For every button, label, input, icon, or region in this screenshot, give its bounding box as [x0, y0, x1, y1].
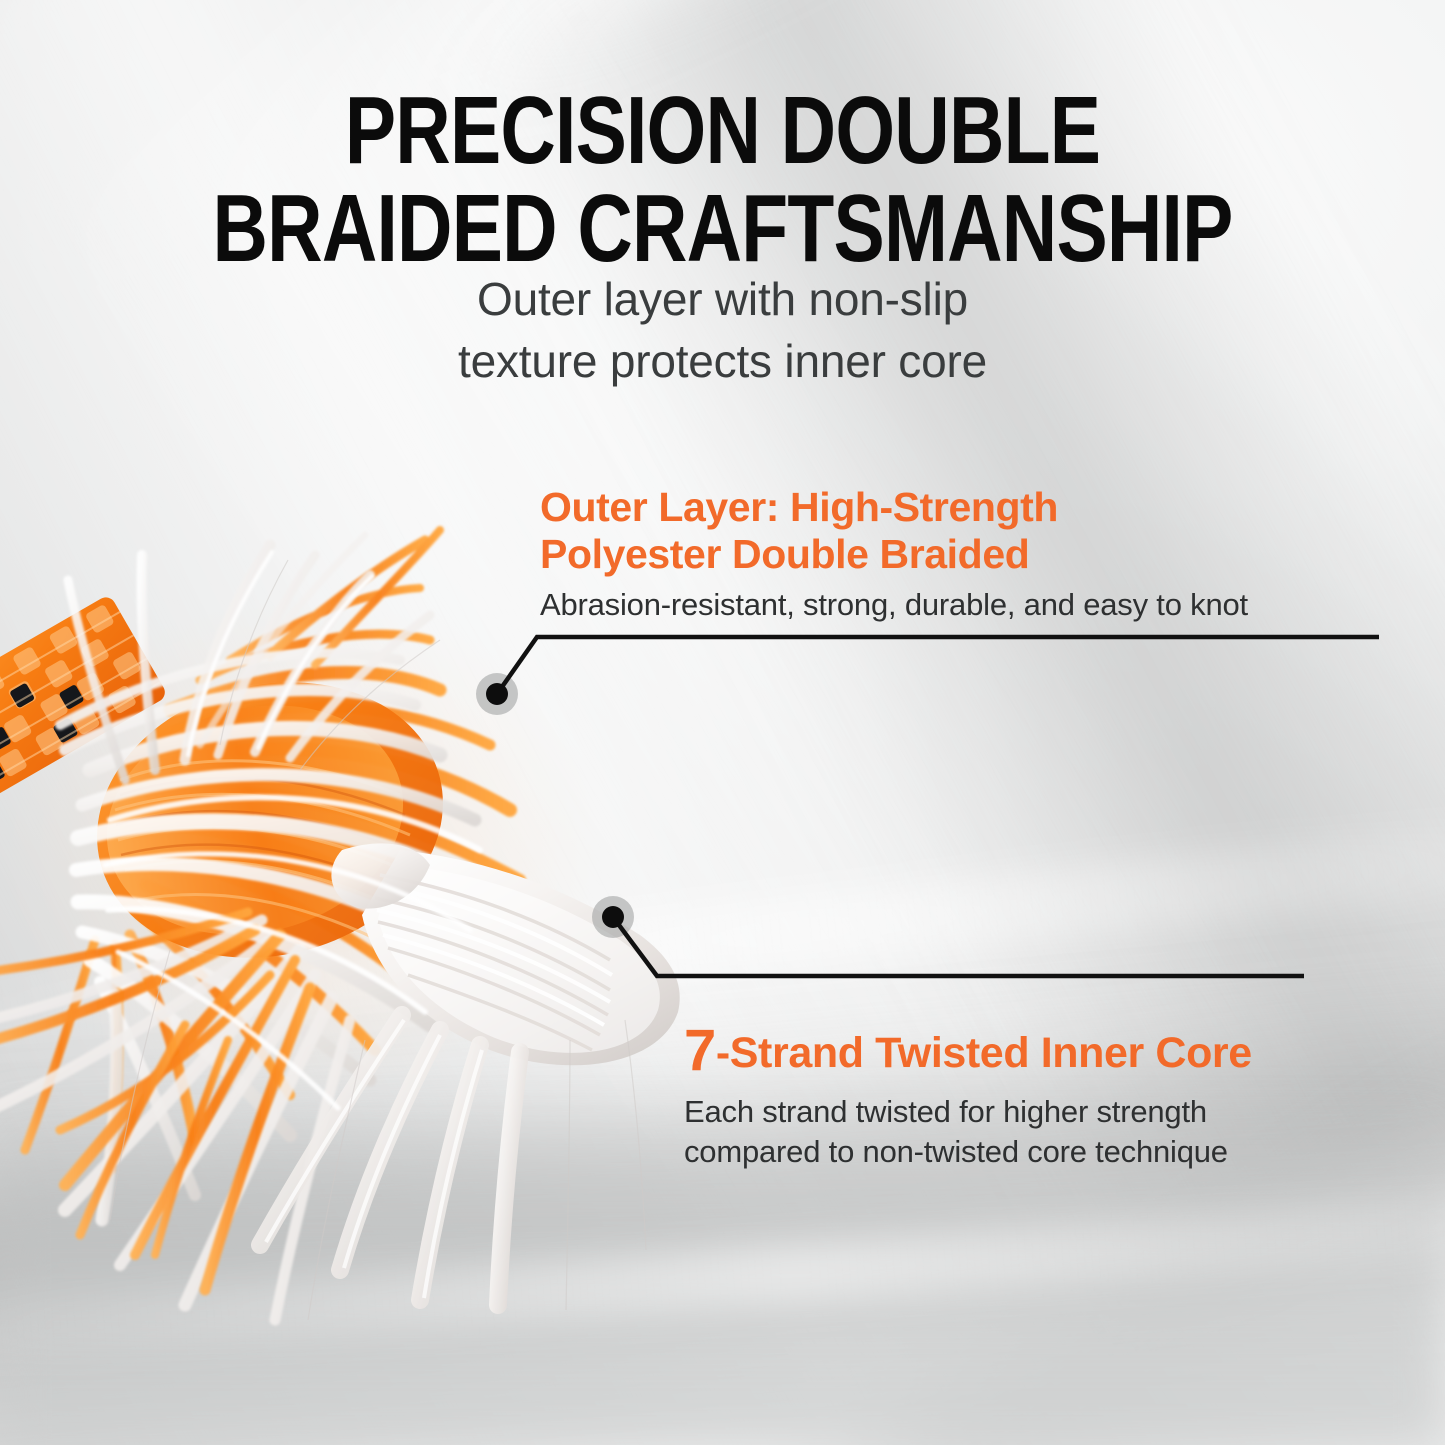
leader-dot-inner-core: [602, 906, 624, 928]
callout-inner-core-heading: 7-Strand Twisted Inner Core: [684, 1022, 1252, 1080]
leader-line-inner-core: [592, 896, 1304, 976]
callout-outer-layer-description: Abrasion-resistant, strong, durable, and…: [540, 585, 1248, 625]
page-subtitle-line-2: texture protects inner core: [0, 330, 1445, 392]
leader-polyline-inner-core: [613, 917, 1304, 976]
callout-inner-core-heading-rest: -Strand Twisted Inner Core: [716, 1029, 1252, 1077]
leader-polyline-outer-layer: [497, 637, 1379, 694]
leader-line-outer-layer: [476, 637, 1379, 715]
infographic-canvas: PRECISION DOUBLE BRAIDED CRAFTSMANSHIP O…: [0, 0, 1445, 1445]
callout-outer-layer-heading-line-1: Outer Layer: High-Strength: [540, 484, 1058, 531]
leader-dot-outer-layer: [486, 683, 508, 705]
callout-inner-core-description-line-1: Each strand twisted for higher strength: [684, 1092, 1207, 1132]
page-title-line-2: BRAIDED CRAFTSMANSHIP: [145, 180, 1301, 278]
callout-outer-layer-heading-line-2: Polyester Double Braided: [540, 531, 1029, 578]
callout-inner-core-strand-count: 7: [684, 1018, 716, 1083]
page-title-line-1: PRECISION DOUBLE: [145, 82, 1301, 180]
page-subtitle-line-1: Outer layer with non-slip: [0, 268, 1445, 330]
callout-inner-core-description-line-2: compared to non-twisted core technique: [684, 1132, 1228, 1172]
